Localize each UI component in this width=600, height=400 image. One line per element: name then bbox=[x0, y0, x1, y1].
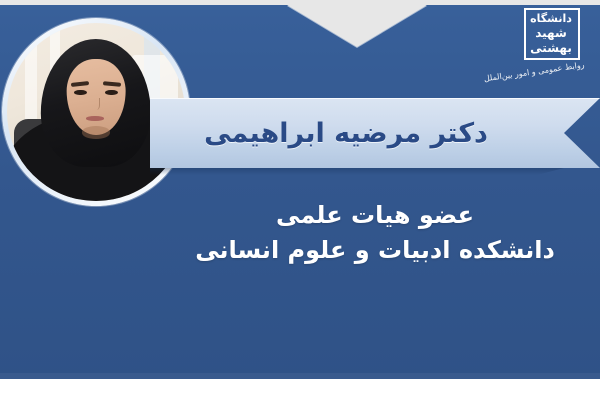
portrait-nose bbox=[92, 98, 100, 110]
bottom-white-area bbox=[0, 379, 600, 400]
name-ribbon: دکتر مرضیه ابراهیمی bbox=[150, 98, 600, 168]
faculty-name: دانشکده ادبیات و علوم انسانی bbox=[170, 233, 580, 268]
profile-banner-card: دانشگاه شهید بهشتی روابط عمومی و امور بی… bbox=[0, 0, 600, 400]
logo-line-2: شهید bbox=[527, 27, 575, 39]
logo-subtitle-calligraphy: روابط عمومی و امور بین‌الملل bbox=[481, 60, 587, 84]
person-name: دکتر مرضیه ابراهیمی bbox=[150, 98, 542, 168]
position-title: عضو هیات علمی bbox=[170, 198, 580, 233]
university-logo: دانشگاه شهید بهشتی روابط عمومی و امور بی… bbox=[478, 6, 588, 88]
top-chevron-notch-icon bbox=[287, 5, 427, 47]
subtitle-block: عضو هیات علمی دانشکده ادبیات و علوم انسا… bbox=[170, 198, 580, 268]
logo-frame-icon: دانشگاه شهید بهشتی bbox=[524, 8, 580, 60]
logo-line-1: دانشگاه bbox=[527, 13, 575, 24]
ribbon-drop-shadow bbox=[150, 168, 600, 175]
logo-line-3: بهشتی bbox=[527, 42, 575, 54]
portrait-neck-shadow bbox=[82, 126, 110, 138]
